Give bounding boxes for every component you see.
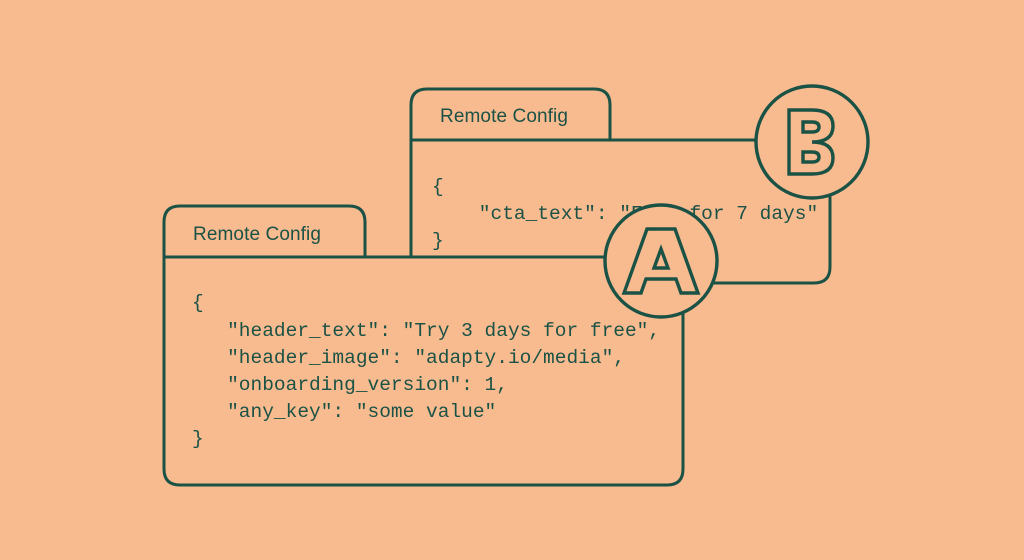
- variant-b-code-line-0: {: [432, 176, 444, 198]
- variant-a-code-line-1: "header_text": "Try 3 days for free",: [192, 320, 660, 342]
- variant-a-code-line-3: "onboarding_version": 1,: [192, 374, 508, 396]
- remote-config-ab-diagram: Remote Config { "cta_text": "Free for 7 …: [0, 0, 1024, 560]
- badge-a[interactable]: A: [605, 205, 717, 317]
- badge-b[interactable]: B: [756, 86, 868, 198]
- diagram-canvas: Remote Config { "cta_text": "Free for 7 …: [0, 0, 1024, 560]
- variant-a-tab-label: Remote Config: [193, 224, 321, 245]
- variant-a-code-line-5: }: [192, 428, 204, 450]
- variant-a-code-line-4: "any_key": "some value": [192, 401, 496, 423]
- variant-b-code-line-2: }: [432, 230, 444, 252]
- variant-b-tab-label: Remote Config: [440, 106, 568, 127]
- variant-a-card-body-fill: [164, 257, 683, 485]
- variant-a-code-line-0: {: [192, 292, 204, 314]
- variant-a-code-line-2: "header_image": "adapty.io/media",: [192, 347, 625, 369]
